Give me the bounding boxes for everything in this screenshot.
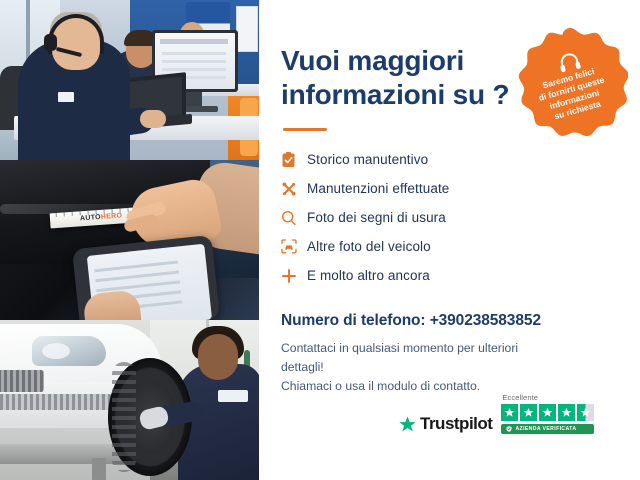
content-panel: Vuoi maggiori informazioni su ? Storico … xyxy=(259,0,640,480)
autohero-ruler-inspection-photo: AUTOHERO xyxy=(0,160,259,320)
mechanic-wheel-inspection-photo xyxy=(0,320,259,480)
headline-line-2: informazioni su ? xyxy=(281,78,531,112)
trustpilot-wordmark: Trustpilot xyxy=(420,414,492,434)
callout-badge: Saremo felici di fornirti queste informa… xyxy=(512,26,628,142)
call-center-agents-photo xyxy=(0,0,259,160)
headline-line-1: Vuoi maggiori xyxy=(281,45,464,76)
star-half-icon xyxy=(577,404,594,421)
star-icon xyxy=(520,404,537,421)
contact-description: Contattaci in qualsiasi momento per ulte… xyxy=(281,339,561,396)
clipboard-check-icon xyxy=(281,152,307,168)
verified-label: AZIENDA VERIFICATA xyxy=(515,426,576,432)
plus-icon xyxy=(281,268,307,284)
tools-cross-icon xyxy=(281,181,307,197)
feature-label: E molto altro ancora xyxy=(307,268,430,283)
star-rating xyxy=(501,404,594,421)
trustpilot-score-block: Eccellente xyxy=(501,393,594,434)
magnifier-icon xyxy=(281,210,307,226)
feature-label: Foto dei segni di usura xyxy=(307,210,446,225)
star-icon xyxy=(501,404,518,421)
photo-column: AUTOHERO xyxy=(0,0,259,480)
phone-number[interactable]: Numero di telefono: +390238583852 xyxy=(281,312,640,330)
feature-list: Storico manutentivo Manutenzi xyxy=(281,145,640,290)
trustpilot-logo: Trustpilot xyxy=(399,414,492,434)
page-title: Vuoi maggiori informazioni su ? xyxy=(281,44,531,112)
list-item: Altre foto del veicolo xyxy=(281,232,640,261)
shield-check-icon xyxy=(506,426,512,432)
list-item: Foto dei segni di usura xyxy=(281,203,640,232)
list-item: Manutenzioni effettuate xyxy=(281,174,640,203)
trustpilot-star-icon xyxy=(399,416,416,433)
contact-line-1: Contattaci in qualsiasi momento per ulte… xyxy=(281,339,561,377)
star-icon xyxy=(558,404,575,421)
feature-label: Altre foto del veicolo xyxy=(307,239,431,254)
list-item: E molto altro ancora xyxy=(281,261,640,290)
list-item: Storico manutentivo xyxy=(281,145,640,174)
feature-label: Manutenzioni effettuate xyxy=(307,181,449,196)
title-divider xyxy=(283,128,327,131)
rating-label: Eccellente xyxy=(502,393,538,402)
feature-label: Storico manutentivo xyxy=(307,152,428,167)
star-icon xyxy=(539,404,556,421)
car-frame-icon xyxy=(281,239,307,254)
verified-company-badge: AZIENDA VERIFICATA xyxy=(501,424,594,434)
promo-banner: AUTOHERO xyxy=(0,0,640,480)
trustpilot-rating[interactable]: Trustpilot Eccellente xyxy=(399,393,594,434)
